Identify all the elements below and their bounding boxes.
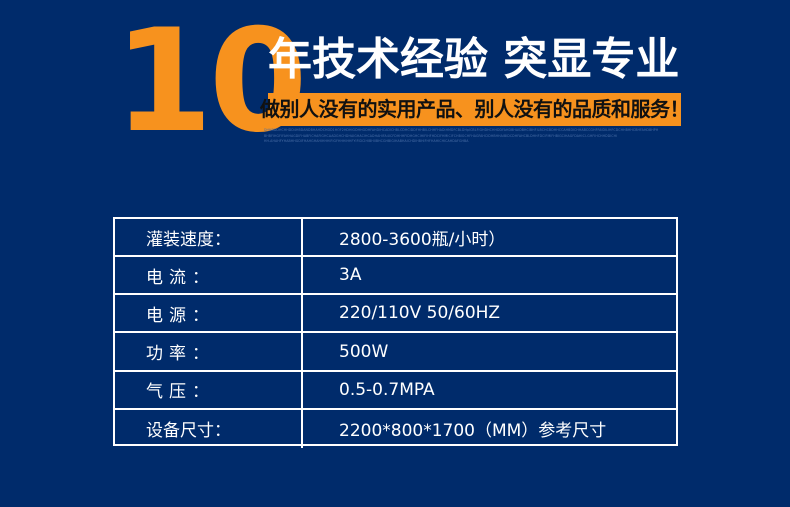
microcopy-line-3: HH-AHAHFYHABHHGDIFHAHGHAHIHHHIFIGFHHHIHH…	[264, 139, 682, 145]
spec-label-6: 设备尺寸：	[115, 410, 303, 448]
decorative-microcopy: DHHBDDHCHHDD4HBDANDBHAHDCHDD1HOF2HDHIGDH…	[264, 128, 682, 145]
spec-label-3: 电源：	[115, 295, 303, 331]
spec-value-1: 2800-3600瓶/小时）	[303, 219, 676, 255]
spec-label-1: 灌装速度：	[115, 219, 303, 255]
headline-text: 年技术经验 突显专业	[268, 31, 688, 89]
spec-row: 气压：0.5-0.7MPA	[115, 372, 676, 410]
spec-label-5: 气压：	[115, 372, 303, 408]
spec-row: 电源：220/110V 50/60HZ	[115, 295, 676, 333]
spec-value-4: 500W	[303, 333, 676, 369]
tagline-text: 做别人没有的实用产品、别人没有的品质和服务！	[260, 93, 689, 126]
spec-value-2: 3A	[303, 257, 676, 293]
spec-row: 灌装速度：2800-3600瓶/小时）	[115, 219, 676, 257]
microcopy-line-1: DHHBDDHCHHDD4HBDANDBHAHDCHDD1HOF2HDHIGDH…	[264, 128, 682, 134]
spec-row: 电流：3A	[115, 257, 676, 295]
spec-label-2: 电流：	[115, 257, 303, 293]
tagline-bar: 做别人没有的实用产品、别人没有的品质和服务！	[268, 93, 681, 126]
spec-value-3: 220/110V 50/60HZ	[303, 295, 676, 331]
product-spec-banner: 10 年技术经验 突显专业 做别人没有的实用产品、别人没有的品质和服务！ DHH…	[0, 0, 790, 507]
spec-label-4: 功率：	[115, 333, 303, 369]
specification-table: 灌装速度：2800-3600瓶/小时）电流：3A电源：220/110V 50/6…	[113, 217, 678, 446]
spec-value-5: 0.5-0.7MPA	[303, 372, 676, 408]
years-number: 10	[114, 14, 266, 150]
banner-header: 10 年技术经验 突显专业 做别人没有的实用产品、别人没有的品质和服务！ DHH…	[0, 0, 790, 170]
spec-row: 设备尺寸：2200*800*1700（MM）参考尺寸	[115, 410, 676, 448]
spec-value-6: 2200*800*1700（MM）参考尺寸	[303, 410, 676, 448]
spec-row: 功率：500W	[115, 333, 676, 371]
